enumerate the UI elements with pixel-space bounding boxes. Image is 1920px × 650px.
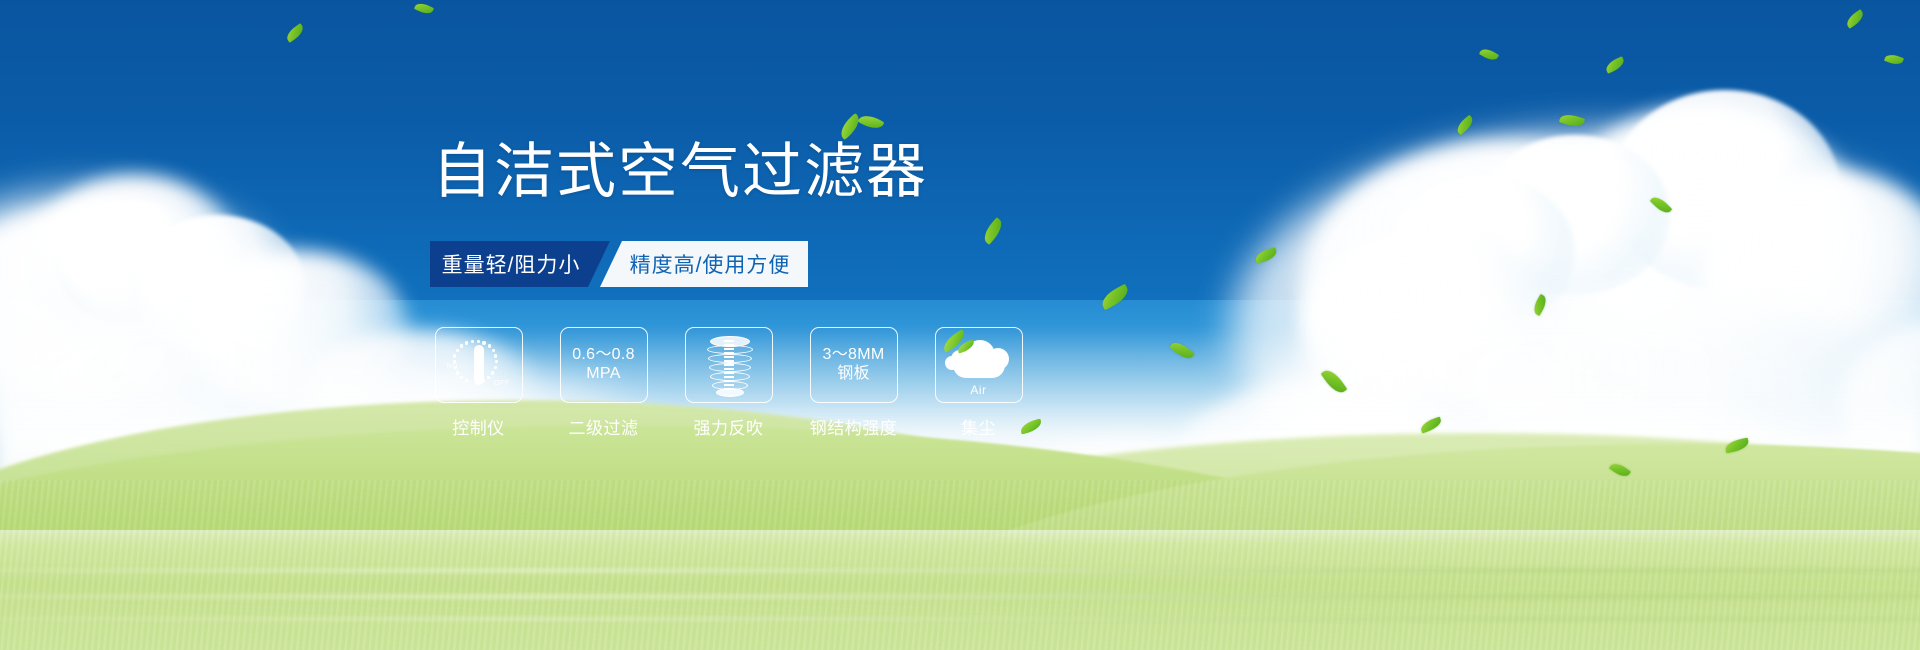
feature-label: 钢结构强度 <box>810 414 898 439</box>
filter-cartridge-icon <box>703 336 755 394</box>
tab-feature-lightweight[interactable]: 重量轻/阻力小 <box>430 241 610 287</box>
leaf-icon <box>1018 419 1042 435</box>
feature-item-two-stage-filter[interactable]: 0.6～0.8 MPA 二级过滤 <box>555 327 652 439</box>
feature-icon-row: NO OFF 控制仪 0.6～0.8 MPA 二级过滤 <box>430 327 1027 439</box>
pressure-range: 0.6～0.8 <box>572 346 635 365</box>
feature-icon-box: Air <box>935 327 1023 403</box>
banner-content: 自洁式空气过滤器 重量轻/阻力小 精度高/使用方便 <box>0 0 1920 650</box>
gauge-label-off: OFF <box>494 380 510 387</box>
steel-material: 钢板 <box>823 365 885 384</box>
steel-plate-text-icon: 3～8MM 钢板 <box>823 346 885 384</box>
tab-feature-precision[interactable]: 精度高/使用方便 <box>600 241 808 287</box>
steel-thickness: 3～8MM <box>823 346 885 365</box>
feature-item-dust-collection[interactable]: Air 集尘 <box>930 327 1027 439</box>
pressure-unit: MPA <box>572 365 635 384</box>
air-label: Air <box>943 383 1015 397</box>
feature-item-backblow[interactable]: 强力反吹 <box>680 327 777 439</box>
tab-label: 重量轻/阻力小 <box>442 249 581 279</box>
feature-icon-box: NO OFF <box>435 327 523 403</box>
feature-label: 控制仪 <box>452 414 505 439</box>
feature-label: 强力反吹 <box>694 414 764 439</box>
feature-label: 集尘 <box>961 414 996 439</box>
feature-item-steel-strength[interactable]: 3～8MM 钢板 钢结构强度 <box>805 327 902 439</box>
gauge-label-on: NO <box>447 363 459 370</box>
feature-icon-box: 3～8MM 钢板 <box>810 327 898 403</box>
tab-label: 精度高/使用方便 <box>630 249 791 279</box>
feature-icon-box: 0.6～0.8 MPA <box>560 327 648 403</box>
feature-icon-box <box>685 327 773 403</box>
product-hero-banner: 自洁式空气过滤器 重量轻/阻力小 精度高/使用方便 <box>0 0 1920 650</box>
gauge-dial-icon: NO OFF <box>448 336 510 394</box>
air-cloud-icon: Air <box>943 334 1015 396</box>
pressure-text-icon: 0.6～0.8 MPA <box>572 346 635 384</box>
feature-label: 二级过滤 <box>569 414 639 439</box>
page-title: 自洁式空气过滤器 <box>432 142 928 202</box>
feature-item-controller[interactable]: NO OFF 控制仪 <box>430 327 527 439</box>
leaf-icon <box>858 111 885 133</box>
